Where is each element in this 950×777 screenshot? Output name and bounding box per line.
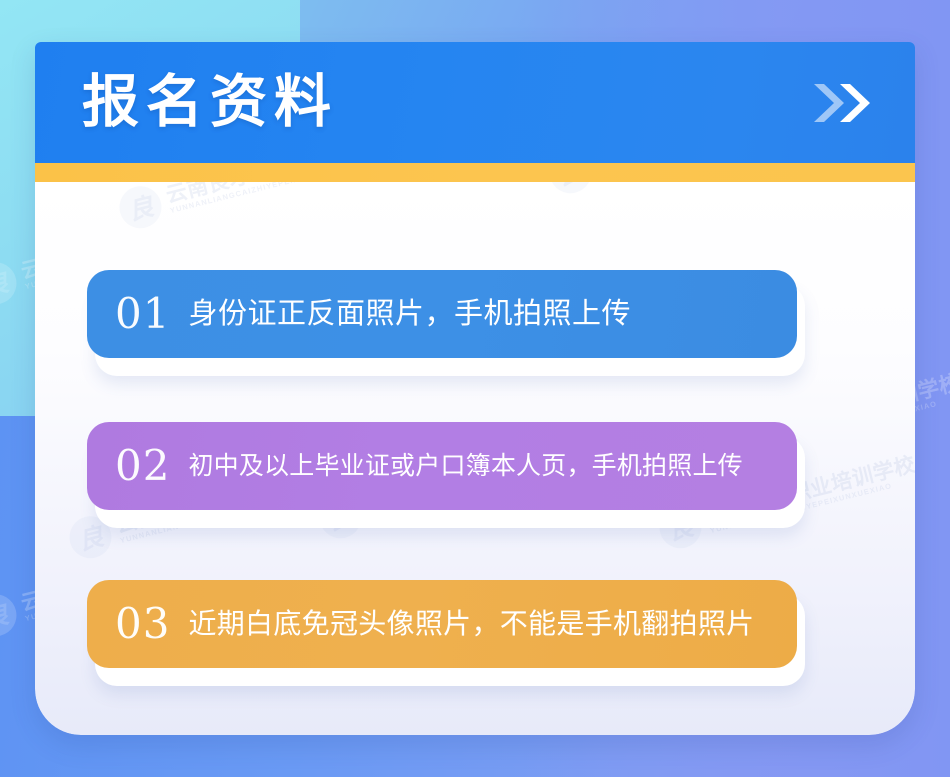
item-text: 近期白底免冠头像照片，不能是手机翻拍照片 bbox=[188, 609, 754, 640]
item-number: 03 bbox=[115, 603, 170, 645]
list-item[interactable]: 01 身份证正反面照片，手机拍照上传 bbox=[87, 270, 797, 358]
list-item[interactable]: 02 初中及以上毕业证或户口簿本人页，手机拍照上传 bbox=[87, 422, 797, 510]
item-number: 02 bbox=[115, 445, 170, 487]
content-panel: 良 云南良才职业培训学校 YUNNANLIANGCAIZHIYEPEIXUNXU… bbox=[35, 42, 915, 735]
header-accent-rule bbox=[35, 163, 915, 182]
item-number: 01 bbox=[115, 293, 170, 335]
double-chevron-right-icon[interactable] bbox=[808, 78, 874, 128]
requirement-card[interactable]: 02 初中及以上毕业证或户口簿本人页，手机拍照上传 bbox=[87, 422, 797, 510]
list-item[interactable]: 03 近期白底免冠头像照片，不能是手机翻拍照片 bbox=[87, 580, 797, 668]
panel-header: 报名资料 bbox=[35, 42, 915, 163]
page-title: 报名资料 bbox=[82, 74, 338, 131]
item-text: 身份证正反面照片，手机拍照上传 bbox=[188, 298, 631, 330]
requirement-card[interactable]: 01 身份证正反面照片，手机拍照上传 bbox=[87, 270, 797, 358]
requirement-card[interactable]: 03 近期白底免冠头像照片，不能是手机翻拍照片 bbox=[87, 580, 797, 668]
item-text: 初中及以上毕业证或户口簿本人页，手机拍照上传 bbox=[188, 452, 742, 480]
